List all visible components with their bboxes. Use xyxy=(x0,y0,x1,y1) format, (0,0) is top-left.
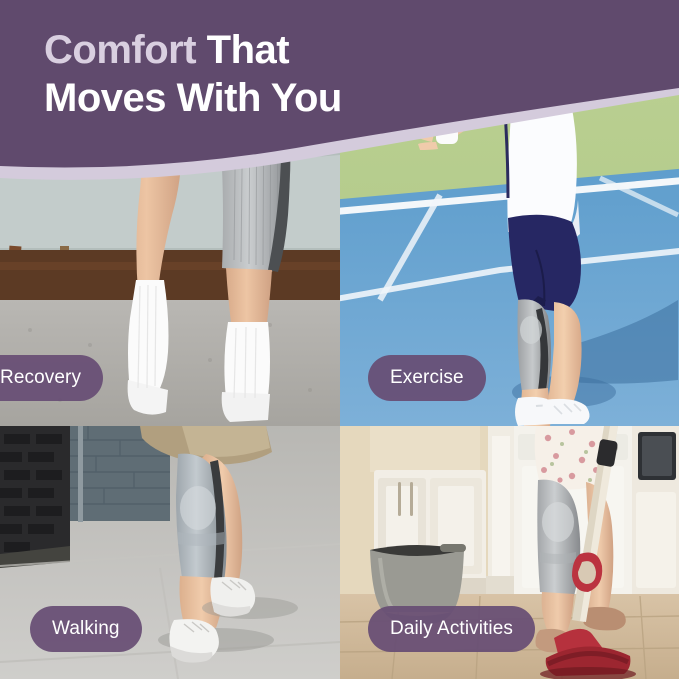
badge-walking[interactable]: Walking xyxy=(30,606,142,652)
badge-recovery[interactable]: Recovery xyxy=(0,355,103,401)
badge-exercise[interactable]: Exercise xyxy=(368,355,486,401)
badge-daily-activities[interactable]: Daily Activities xyxy=(368,606,535,652)
photo-grid xyxy=(0,0,679,679)
product-lifestyle-poster: Comfort That Moves With You Recovery Exe… xyxy=(0,0,679,679)
